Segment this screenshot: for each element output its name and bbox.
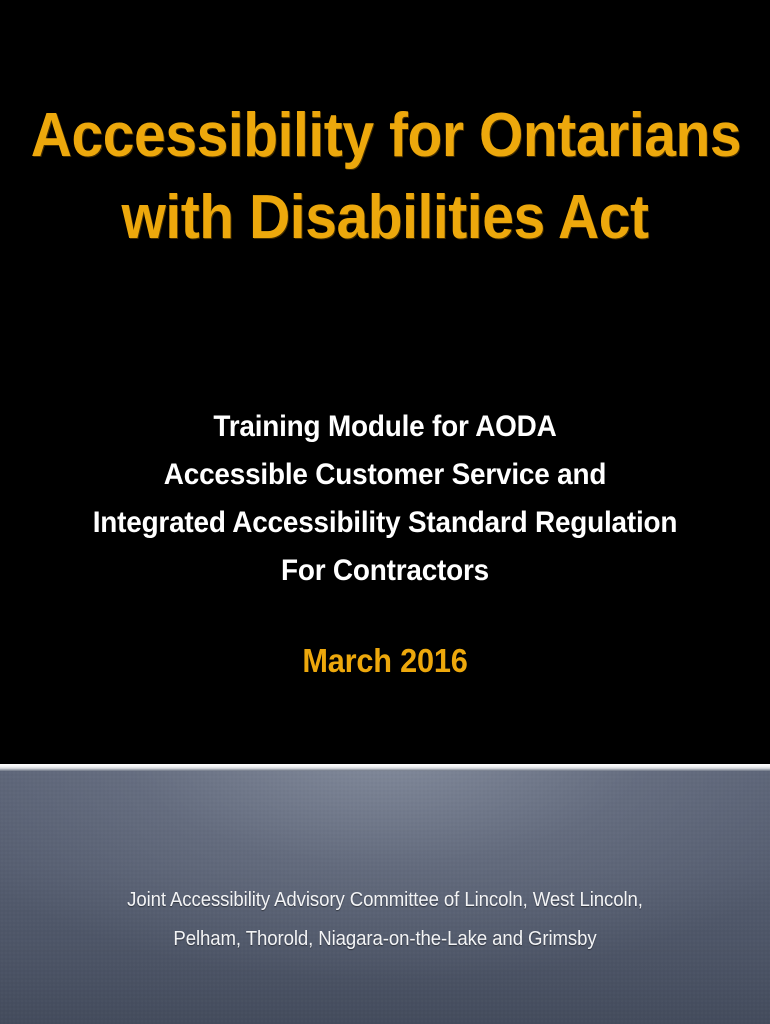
subtitle: Training Module for AODA Accessible Cust… bbox=[0, 403, 770, 595]
subtitle-line-4: For Contractors bbox=[27, 547, 743, 595]
subtitle-line-1: Training Module for AODA bbox=[27, 403, 743, 451]
title-line-1: Accessibility for Ontarians bbox=[31, 95, 739, 177]
footer-line-1: Joint Accessibility Advisory Committee o… bbox=[27, 881, 743, 920]
date-label: March 2016 bbox=[0, 641, 770, 681]
section-divider bbox=[0, 764, 770, 771]
page-title: Accessibility for Ontarians with Disabil… bbox=[0, 95, 770, 259]
subtitle-line-2: Accessible Customer Service and bbox=[27, 451, 743, 499]
footer-attribution: Joint Accessibility Advisory Committee o… bbox=[0, 881, 770, 959]
slide-content-area: Accessibility for Ontarians with Disabil… bbox=[0, 0, 770, 764]
footer-line-2: Pelham, Thorold, Niagara-on-the-Lake and… bbox=[27, 920, 743, 959]
title-slide: Accessibility for Ontarians with Disabil… bbox=[0, 0, 770, 1024]
title-line-2: with Disabilities Act bbox=[31, 177, 739, 259]
subtitle-line-3: Integrated Accessibility Standard Regula… bbox=[27, 499, 743, 547]
date-text: March 2016 bbox=[27, 641, 743, 681]
footer-panel: Joint Accessibility Advisory Committee o… bbox=[0, 771, 770, 1024]
